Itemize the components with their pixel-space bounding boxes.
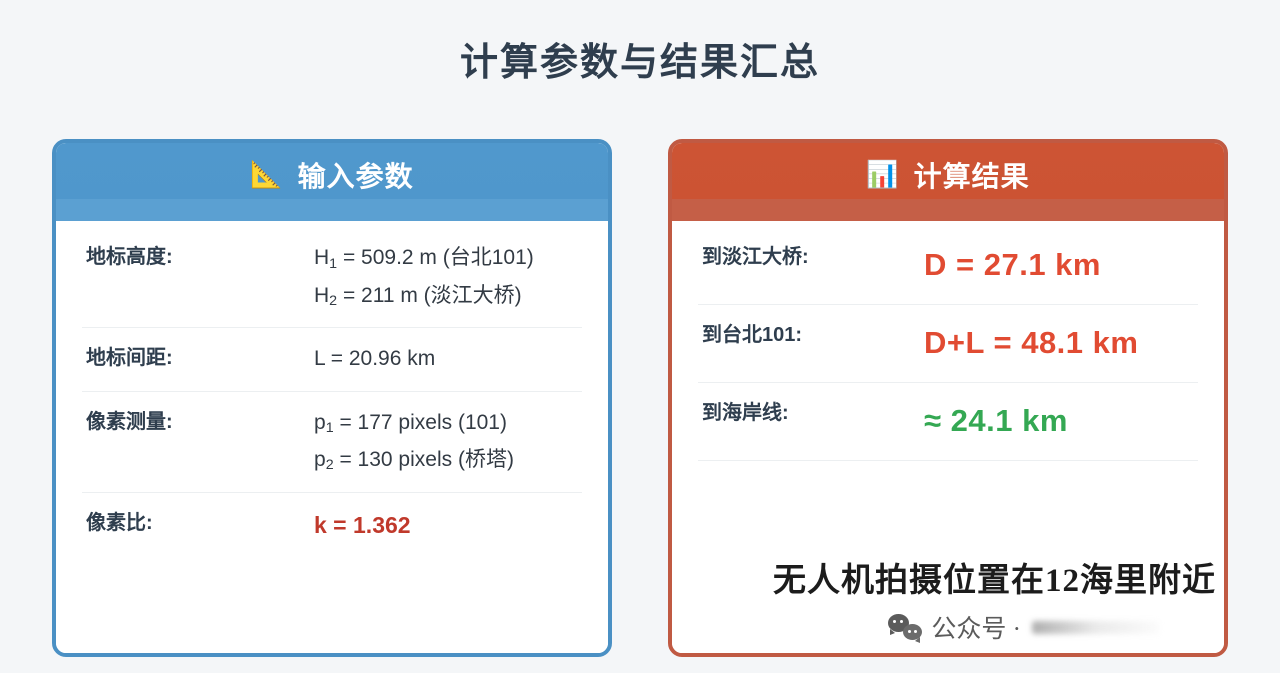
row-label-landmark-height: 地标高度: bbox=[86, 243, 314, 272]
row-value: L = 20.96 km bbox=[314, 344, 578, 374]
row-label-pixel-measurement: 像素测量: bbox=[86, 408, 314, 437]
input-card-header: 📐 输入参数 bbox=[56, 143, 608, 221]
row-label-pixel-ratio: 像素比: bbox=[86, 509, 314, 538]
page-title: 计算参数与结果汇总 bbox=[0, 25, 1280, 87]
row-label-landmark-distance: 地标间距: bbox=[86, 344, 314, 373]
wechat-icon bbox=[888, 614, 922, 640]
row-value: p1 = 177 pixels (101) bbox=[314, 408, 578, 438]
row-values: ≈ 24.1 km bbox=[924, 399, 1194, 444]
row-value: H2 = 211 m (淡江大桥) bbox=[314, 281, 578, 311]
row-value-distance-taipei101: D+L = 48.1 km bbox=[924, 321, 1194, 366]
table-row: 到海岸线: ≈ 24.1 km bbox=[698, 383, 1198, 461]
table-row: 到淡江大桥: D = 27.1 km bbox=[698, 227, 1198, 305]
overlay-credit: 公众号 · bbox=[686, 609, 1216, 645]
overlay-credit-redacted-name bbox=[1032, 621, 1160, 634]
input-parameters-card: 📐 输入参数 地标高度: H1 = 509.2 m (台北101) H2 = 2… bbox=[52, 139, 612, 657]
row-value-pixel-ratio: k = 1.362 bbox=[314, 509, 578, 542]
row-value: H1 = 509.2 m (台北101) bbox=[314, 243, 578, 273]
row-values: p1 = 177 pixels (101) p2 = 130 pixels (桥… bbox=[314, 408, 578, 476]
table-row: 到台北101: D+L = 48.1 km bbox=[698, 305, 1198, 383]
row-label-to-taipei-101: 到台北101: bbox=[702, 321, 924, 350]
result-card-body: 到淡江大桥: D = 27.1 km 到台北101: D+L = 48.1 km… bbox=[672, 221, 1224, 653]
result-card-header: 📊 计算结果 bbox=[672, 143, 1224, 221]
result-card-title: 计算结果 bbox=[914, 155, 1030, 195]
overlay-headline: 无人机拍摄位置在12海里附近 bbox=[686, 562, 1216, 602]
row-values: D = 27.1 km bbox=[924, 243, 1194, 288]
row-label-to-tamsui-bridge: 到淡江大桥: bbox=[702, 243, 924, 272]
row-label-to-coastline: 到海岸线: bbox=[702, 399, 924, 428]
row-value-distance-coastline: ≈ 24.1 km bbox=[924, 399, 1194, 444]
row-value-distance-bridge: D = 27.1 km bbox=[924, 243, 1194, 288]
cards-container: 📐 输入参数 地标高度: H1 = 509.2 m (台北101) H2 = 2… bbox=[0, 139, 1280, 657]
row-values: k = 1.362 bbox=[314, 509, 578, 542]
row-values: H1 = 509.2 m (台北101) H2 = 211 m (淡江大桥) bbox=[314, 243, 578, 311]
table-row: 地标高度: H1 = 509.2 m (台北101) H2 = 211 m (淡… bbox=[82, 227, 582, 328]
input-card-body: 地标高度: H1 = 509.2 m (台北101) H2 = 211 m (淡… bbox=[56, 221, 608, 653]
table-row: 地标间距: L = 20.96 km bbox=[82, 328, 582, 391]
row-values: D+L = 48.1 km bbox=[924, 321, 1194, 366]
calculation-results-card: 📊 计算结果 到淡江大桥: D = 27.1 km 到台北101: D+L = … bbox=[668, 139, 1228, 657]
bar-chart-icon: 📊 bbox=[866, 161, 899, 187]
table-row: 像素测量: p1 = 177 pixels (101) p2 = 130 pix… bbox=[82, 392, 582, 493]
table-row: 像素比: k = 1.362 bbox=[82, 493, 582, 558]
row-values: L = 20.96 km bbox=[314, 344, 578, 374]
triangular-ruler-icon: 📐 bbox=[250, 161, 283, 187]
row-value: p2 = 130 pixels (桥塔) bbox=[314, 445, 578, 475]
watermark-overlay: 无人机拍摄位置在12海里附近 公众号 · bbox=[672, 562, 1224, 646]
overlay-credit-text: 公众号 · bbox=[931, 609, 1021, 645]
input-card-title: 输入参数 bbox=[298, 155, 414, 195]
